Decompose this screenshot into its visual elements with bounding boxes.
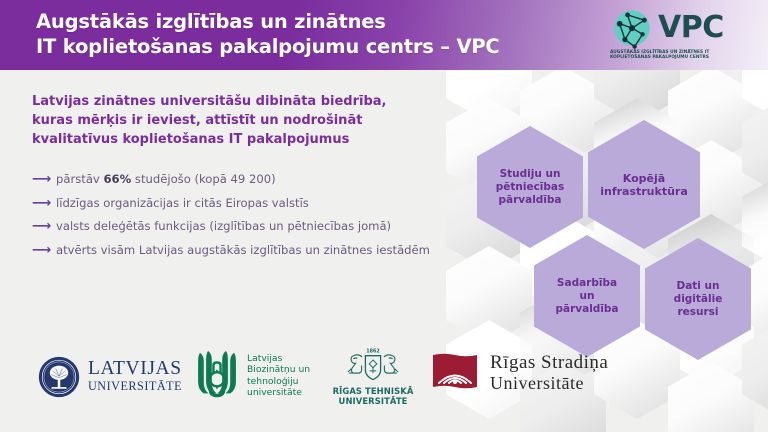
rsu-wordmark: Rīgas Stradiņa Universitāte <box>490 352 608 393</box>
vpc-logo: VPC AUGSTĀKĀS IZGLĪTĪBAS UN ZINĀTNES IT … <box>602 5 754 67</box>
rsu-wordmark-line1: Rīgas Stradiņa <box>490 352 608 373</box>
svg-text:1862: 1862 <box>366 348 380 354</box>
partner-logo-strip: LATVIJAS UNIVERSITĀTE <box>0 345 768 415</box>
lbtu-wheat-gear-icon <box>193 349 241 401</box>
list-item: ⟶ līdzīgas organizācijas ir citās Eiropa… <box>32 196 462 212</box>
list-item-text-pre: atvērts visām Latvijas augstākās izglītī… <box>56 243 430 257</box>
network-nodes-icon <box>610 7 654 51</box>
hexagon-studiju-un-petniecibas-parvaldiba[interactable]: Studiju un pētniecības pārvaldība <box>477 126 583 248</box>
list-item-text-strong: 66% <box>103 172 131 186</box>
lu-wordmark-line2: UNIVERSITĀTE <box>88 379 182 393</box>
list-item: ⟶ pārstāv 66% studējošo (kopā 49 200) <box>32 172 462 188</box>
list-item: ⟶ atvērts visām Latvijas augstākās izglī… <box>32 243 462 259</box>
arrow-right-icon: ⟶ <box>32 196 51 212</box>
logo-latvijas-universitate: LATVIJAS UNIVERSITĀTE <box>38 353 193 401</box>
arrow-right-icon: ⟶ <box>32 243 51 259</box>
hexagon-kopeja-infrastruktura[interactable]: Kopējā infrastruktūra <box>588 120 700 249</box>
arrow-right-icon: ⟶ <box>32 219 51 235</box>
list-item-text-pre: līdzīgas organizācijas ir citās Eiropas … <box>56 196 309 210</box>
list-item: ⟶ valsts deleģētās funkcijas (izglītības… <box>32 219 462 235</box>
list-item-text-pre: valsts deleģētās funkcijas (izglītības u… <box>56 219 391 233</box>
lbtu-wordmark: Latvijas Biozinātņu un tehnoloģiju unive… <box>247 353 310 399</box>
slide-canvas: Augstākās izglītības un zinātnes IT kopl… <box>0 0 768 432</box>
rtu-wordmark: RĪGAS TEHNISKĀ UNIVERSITĀTE <box>328 386 418 406</box>
intro-paragraph: Latvijas zinātnes universitāšu dibināta … <box>32 92 452 149</box>
arrow-right-icon: ⟶ <box>32 172 51 188</box>
logo-rigas-tehniska-universitate: 1862 <box>328 347 418 407</box>
logo-latvijas-biozinatnu-un-tehnologiju-universitate: Latvijas Biozinātņu un tehnoloģiju unive… <box>193 349 318 405</box>
rtu-crest-griffins-icon: 1862 <box>334 347 412 385</box>
lu-seal-tree-icon <box>38 356 80 398</box>
vpc-logo-subtitle: AUGSTĀKĀS IZGLĪTĪBAS UN ZINĀTNES IT KOPL… <box>610 50 754 61</box>
hexagon-dati-un-digitalie-resursi[interactable]: Dati un digitālie resursi <box>645 238 751 360</box>
rsu-wordmark-line2: Universitāte <box>490 373 608 393</box>
rsu-waves-icon <box>430 352 480 392</box>
lu-wordmark: LATVIJAS UNIVERSITĀTE <box>88 358 182 393</box>
logo-rigas-stradina-universitate: Rīgas Stradiņa Universitāte <box>430 351 690 401</box>
lu-wordmark-line1: LATVIJAS <box>88 358 182 379</box>
list-item-text-post: studējošo (kopā 49 200) <box>131 172 275 186</box>
vpc-wordmark: VPC <box>658 11 724 45</box>
page-title: Augstākās izglītības un zinātnes IT kopl… <box>36 9 500 59</box>
list-item-text-pre: pārstāv <box>56 172 103 186</box>
hexagon-sadarbiba-un-parvaldiba[interactable]: Sadarbība un pārvaldība <box>534 235 640 357</box>
bullet-list: ⟶ pārstāv 66% studējošo (kopā 49 200) ⟶ … <box>32 172 462 266</box>
slide-header: Augstākās izglītības un zinātnes IT kopl… <box>0 0 768 70</box>
